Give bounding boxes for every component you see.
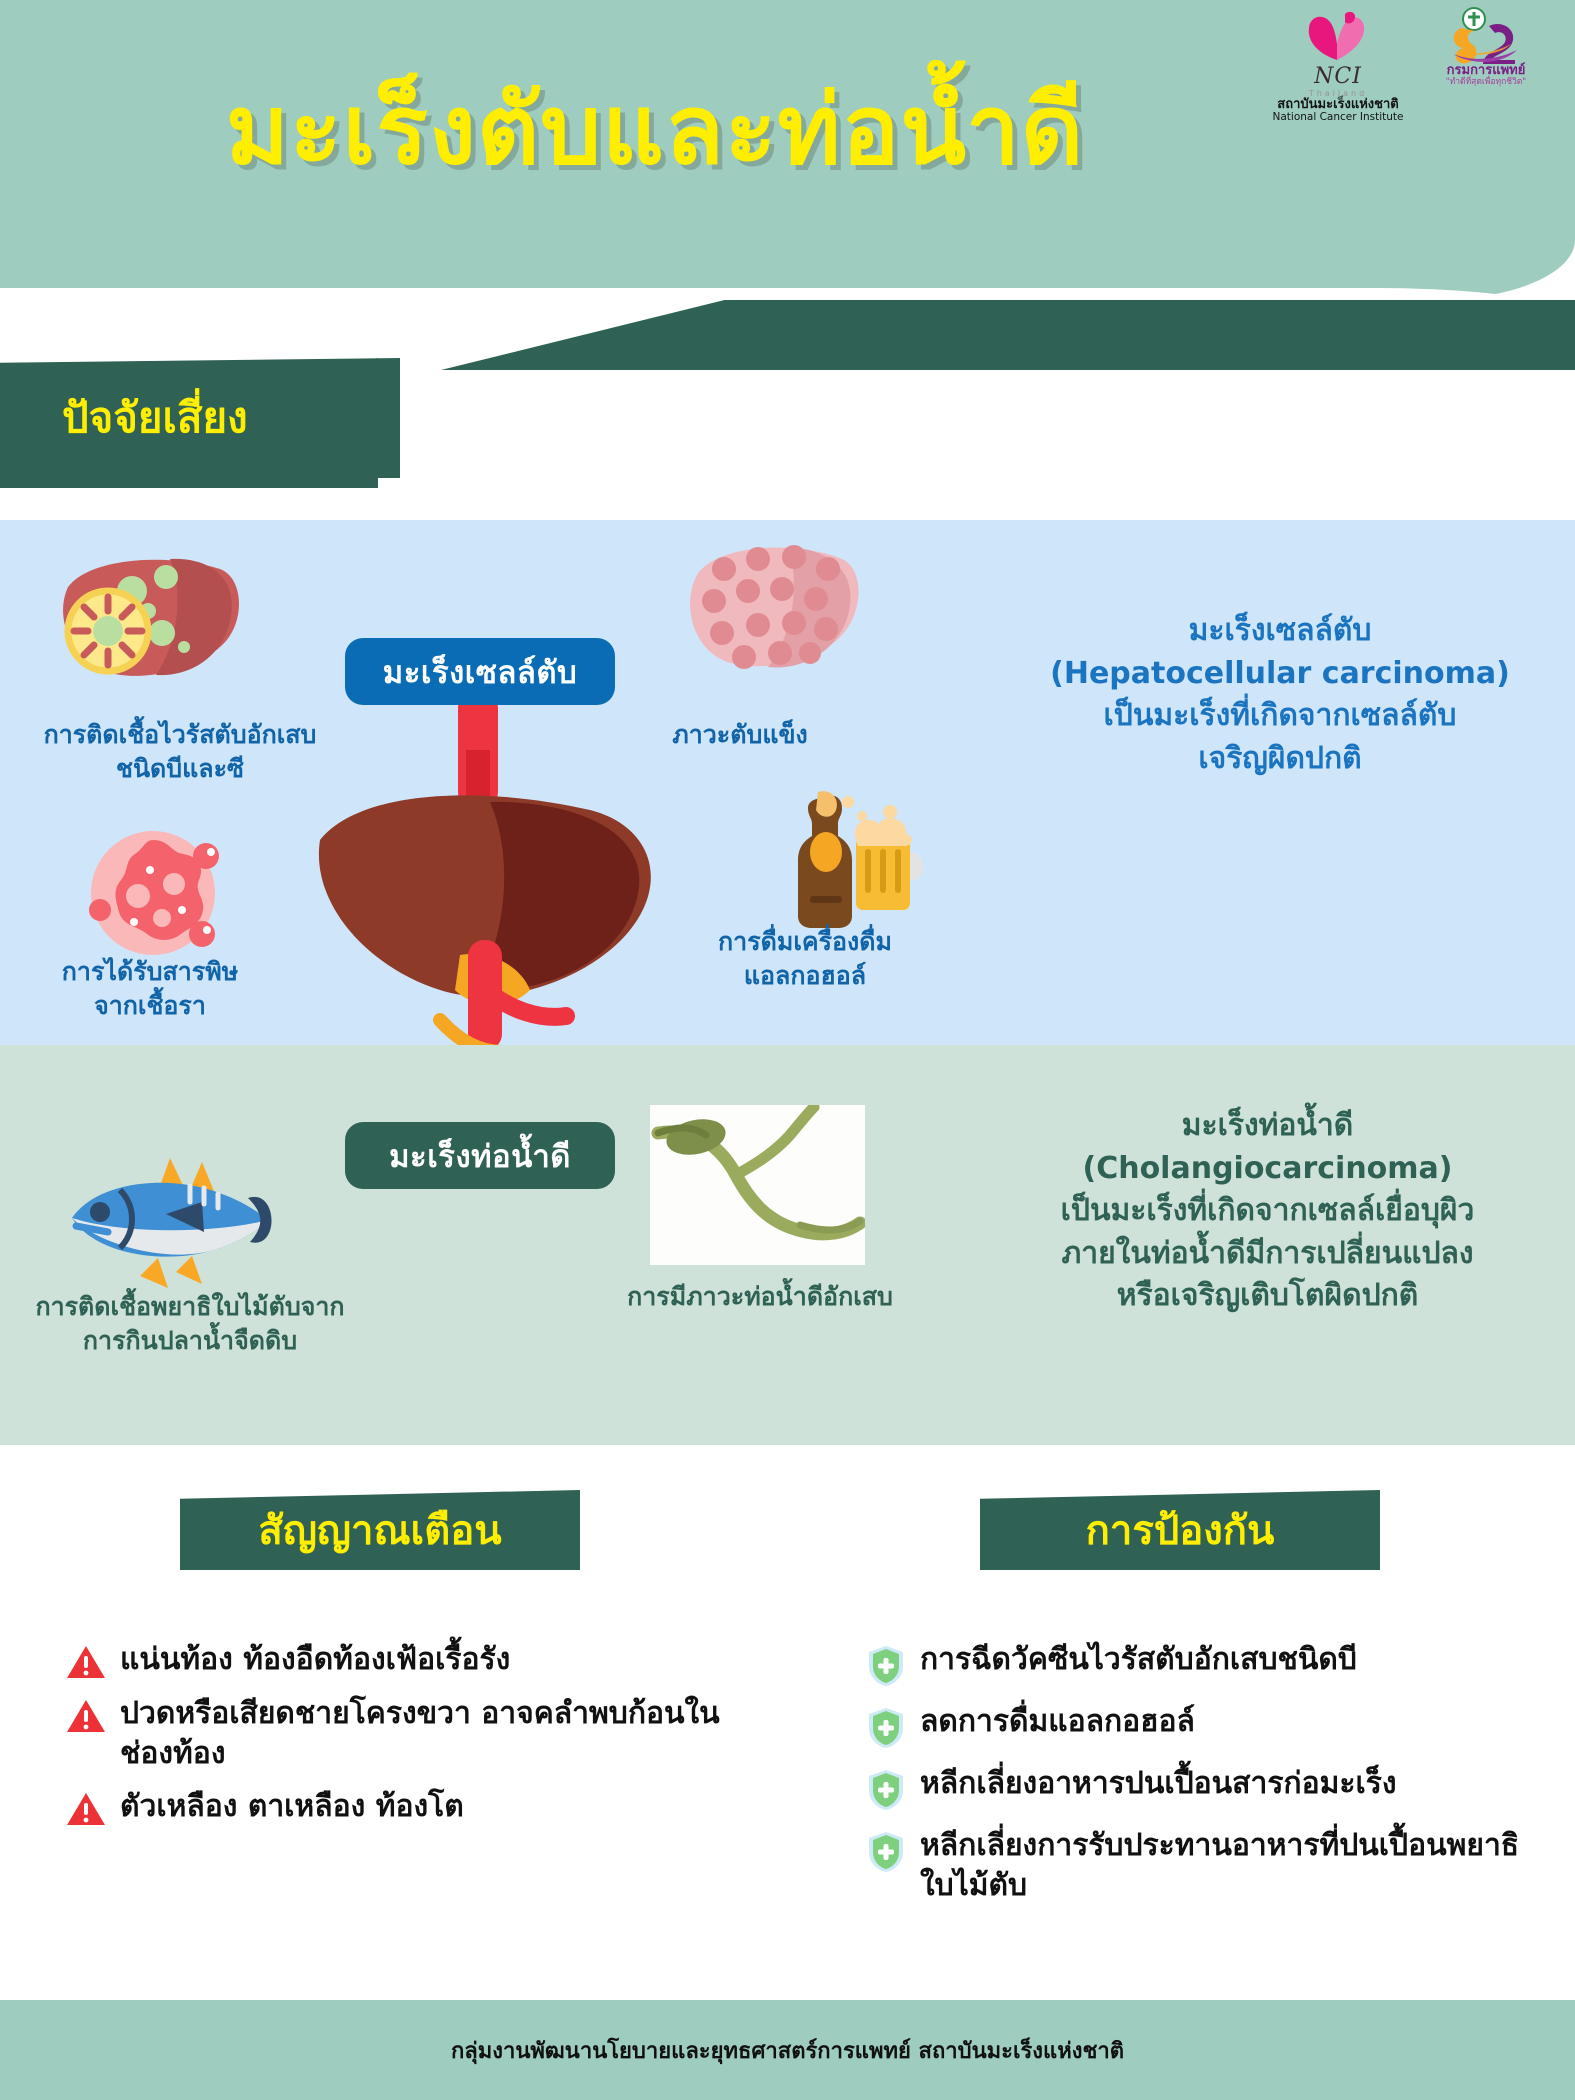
fish-icon [62, 1140, 282, 1290]
cholangiocarcinoma-description: มะเร็งท่อน้ำดี (Cholangiocarcinoma) เป็น… [960, 1105, 1575, 1318]
prevention-tab: การป้องกัน [980, 1490, 1380, 1570]
nci-script-text: NCI [1314, 64, 1362, 89]
hepatocellular-badge: มะเร็งเซลล์ตับ [345, 638, 615, 705]
risk-caption-alcohol: การดื่มเครื่องดื่ม แอลกอฮอล์ [660, 925, 950, 993]
dms-82-logo: กรมการแพทย์ "ทำดีที่สุดเพื่อทุกชีวิต" [1421, 8, 1551, 87]
warning-triangle-icon [62, 1787, 110, 1827]
warning-triangle-icon [62, 1640, 110, 1680]
nci-thai-name: สถาบันมะเร็งแห่งชาติ [1277, 98, 1398, 112]
risk-factors-heading: ปัจจัยเสี่ยง [62, 385, 248, 451]
risk-caption-hepatitis: การติดเชื้อไวรัสตับอักเสบ ชนิดบีและซี [0, 718, 360, 786]
shield-plus-icon [862, 1826, 910, 1874]
aflatoxin-mold-cell-icon [78, 818, 228, 968]
warning-signs-heading: สัญญาณเตือน [258, 1498, 501, 1562]
shield-plus-icon [862, 1640, 910, 1688]
logo-group: NCI Thailand สถาบันมะเร็งแห่งชาติ Nation… [1273, 8, 1551, 123]
warning-item: ปวดหรือเสียดชายโครงขวา อาจคลำพบก้อนในช่อ… [62, 1694, 762, 1773]
warning-signs-list: แน่นท้อง ท้องอืดท้องเฟ้อเรื้อรัง ปวดหรือ… [62, 1640, 762, 1841]
prevention-item-text: ลดการดื่มแอลกอฮอล์ [920, 1702, 1195, 1742]
warning-item-text: แน่นท้อง ท้องอืดท้องเฟ้อเรื้อรัง [120, 1640, 510, 1680]
warning-item: ตัวเหลือง ตาเหลือง ท้องโต [62, 1787, 762, 1827]
prevention-item: ลดการดื่มแอลกอฮอล์ [862, 1702, 1552, 1750]
hepatocellular-description: มะเร็งเซลล์ตับ (Hepatocellular carcinoma… [985, 610, 1575, 780]
prevention-item-text: หลีกเลี่ยงการรับประทานอาหารที่ปนเปื้อนพย… [920, 1826, 1552, 1905]
page-title: มะเร็งตับและท่อน้ำดี [0, 78, 1310, 184]
cirrhotic-liver-icon [670, 525, 870, 705]
risk-caption-cholangitis: การมีภาวะท่อน้ำดีอักเสบ [560, 1280, 960, 1314]
82-anniversary-icon [1443, 8, 1529, 64]
dms-slogan: "ทำดีที่สุดเพื่อทุกชีวิต" [1446, 78, 1526, 87]
shield-plus-icon [862, 1764, 910, 1812]
nci-english-name: National Cancer Institute [1273, 112, 1404, 124]
beer-bottle-mug-icon [770, 790, 930, 930]
shield-plus-icon [862, 1702, 910, 1750]
warning-item-text: ปวดหรือเสียดชายโครงขวา อาจคลำพบก้อนในช่อ… [120, 1694, 762, 1773]
page-header: มะเร็งตับและท่อน้ำดี NCI Thailand สถาบัน… [0, 0, 1575, 300]
bile-duct-photo [650, 1105, 865, 1265]
prevention-item-text: หลีกเลี่ยงอาหารปนเปื้อนสารก่อมะเร็ง [920, 1764, 1397, 1804]
liver-virus-icon [50, 535, 250, 710]
prevention-heading: การป้องกัน [1086, 1498, 1275, 1562]
prevention-item: หลีกเลี่ยงการรับประทานอาหารที่ปนเปื้อนพย… [862, 1826, 1552, 1905]
warning-triangle-icon [62, 1694, 110, 1734]
warning-item: แน่นท้อง ท้องอืดท้องเฟ้อเรื้อรัง [62, 1640, 762, 1680]
page-footer: กลุ่มงานพัฒนานโยบายและยุทธศาสตร์การแพทย์… [0, 2000, 1575, 2100]
footer-text: กลุ่มงานพัฒนานโยบายและยุทธศาสตร์การแพทย์… [451, 2033, 1124, 2068]
risk-caption-aflatoxin: การได้รับสารพิษ จากเชื้อรา [0, 955, 300, 1023]
risk-caption-cirrhosis: ภาวะตับแข็ง [600, 718, 880, 752]
prevention-item: หลีกเลี่ยงอาหารปนเปื้อนสารก่อมะเร็ง [862, 1764, 1552, 1812]
prevention-item: การฉีดวัคซีนไวรัสตับอักเสบชนิดบี [862, 1640, 1552, 1688]
risk-factors-tab: ปัจจัยเสี่ยง [0, 358, 400, 478]
risk-caption-liver-fluke: การติดเชื้อพยาธิใบไม้ตับจาก การกินปลาน้ำ… [0, 1290, 380, 1358]
nci-logo: NCI Thailand สถาบันมะเร็งแห่งชาติ Nation… [1273, 8, 1403, 123]
warning-signs-tab: สัญญาณเตือน [180, 1490, 580, 1570]
warning-item-text: ตัวเหลือง ตาเหลือง ท้องโต [120, 1787, 464, 1827]
prevention-item-text: การฉีดวัคซีนไวรัสตับอักเสบชนิดบี [920, 1640, 1357, 1680]
cholangiocarcinoma-badge: มะเร็งท่อน้ำดี [345, 1122, 615, 1189]
dms-thai-name: กรมการแพทย์ [1447, 64, 1526, 78]
butterfly-ribbon-icon [1299, 8, 1377, 64]
prevention-list: การฉีดวัคซีนไวรัสตับอักเสบชนิดบี ลดการดื… [862, 1640, 1552, 1919]
